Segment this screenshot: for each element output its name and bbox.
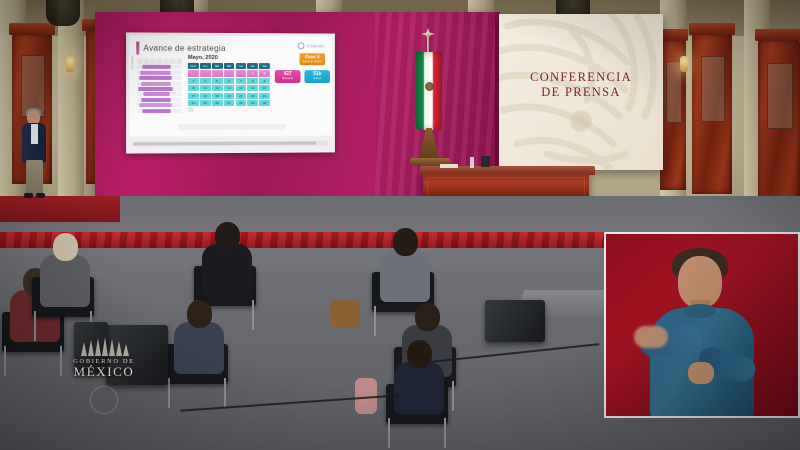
- calendar-day-cell: 14: [235, 85, 246, 91]
- calendar-day-cell: 3: [188, 78, 199, 84]
- slide-footer-bar: [178, 124, 286, 130]
- gantt-bar: [144, 92, 170, 96]
- banner-seal-icon: [570, 110, 592, 132]
- calendar-dow-cell: Lun: [200, 63, 211, 69]
- calendar-day-cell: 29: [247, 100, 258, 106]
- stat-sub: Activos: [304, 77, 330, 80]
- gantt-bar: [141, 81, 170, 85]
- gantt-row: [137, 109, 182, 113]
- calendar-week-row: 17181920212223: [188, 92, 270, 98]
- gantt-row: [137, 81, 182, 85]
- audience-head: [393, 228, 418, 256]
- chair-leg: [374, 306, 376, 336]
- audience-torso: [174, 322, 224, 374]
- interpreter-hand-right: [688, 362, 714, 384]
- calendar-day-cell: 22: [247, 93, 258, 99]
- calendar-day-cell: [200, 70, 211, 76]
- gantt-bar: [141, 98, 171, 102]
- gantt-bar: [142, 109, 171, 113]
- chair-leg: [444, 418, 446, 448]
- banner-line-2: DE PRENSA: [499, 85, 663, 100]
- banner-line-1: CONFERENCIA: [499, 70, 663, 85]
- calendar-day-cell: 28: [235, 100, 246, 106]
- gantt-row: [137, 98, 182, 102]
- wall-sconce-icon: [66, 56, 74, 72]
- sign-language-pip: [604, 232, 800, 418]
- banner-text: CONFERENCIA DE PRENSA: [499, 70, 663, 100]
- calendar-dow-cell: Mar: [212, 63, 223, 69]
- mexican-flag: [416, 52, 442, 130]
- calendar-day-cell: 24: [188, 100, 199, 106]
- calendar-dow-cell: Vie: [247, 63, 258, 69]
- calendar-day-cell: 5: [212, 78, 223, 84]
- slide-logo: CONEVAL: [298, 42, 326, 49]
- chair-leg: [452, 381, 454, 411]
- calendar-legend-chip: [188, 107, 194, 112]
- calendar-day-cell: 16: [259, 85, 270, 91]
- eagle-logo-icon: [75, 332, 133, 358]
- calendar-day-cell: 8: [247, 78, 258, 84]
- gantt-row: [137, 92, 182, 96]
- calendar-day-cell: 20: [224, 92, 235, 98]
- audience-torso: [394, 362, 444, 414]
- calendar-day-cell: 11: [200, 85, 211, 91]
- gantt-chart: Entidades: [137, 59, 182, 122]
- calendar-week-row: 12: [188, 70, 270, 76]
- gantt-bar: [139, 87, 173, 91]
- gantt-row: [137, 103, 182, 107]
- audience-torso: [40, 255, 90, 307]
- calendar-day-cell: 21: [235, 93, 246, 99]
- calendar-day-cell: [224, 70, 235, 76]
- phase-badge: Fase 3 Ascenso rápido: [300, 53, 326, 65]
- calendar-day-cell: 2: [259, 70, 270, 76]
- projection-screen: Avance de estrategia CONEVAL Fase 3 Asce…: [126, 32, 335, 153]
- calendar-day-cell: 1: [247, 70, 258, 76]
- calendar-day-cell: 23: [259, 93, 270, 99]
- calendar-day-cell: 10: [188, 85, 199, 91]
- calendar-day-cell: [235, 70, 246, 76]
- door: [692, 34, 732, 194]
- calendar-dow-cell: Jue: [235, 63, 246, 69]
- slide-scrollbar[interactable]: [132, 141, 329, 147]
- gantt-row: [137, 65, 182, 69]
- gantt-bar: [139, 103, 171, 107]
- audience-torso: [202, 244, 252, 296]
- calendar-day-cell: 19: [212, 92, 223, 98]
- stat-badge-active: 51k Activos: [304, 70, 330, 83]
- audience-head: [215, 222, 240, 250]
- gantt-row: [137, 87, 182, 91]
- calendar-month-label: Mayo, 2020: [188, 55, 270, 61]
- stat-badge-cases: 427 Mil casos: [275, 70, 301, 83]
- presentation-slide: Avance de estrategia CONEVAL Fase 3 Asce…: [129, 35, 332, 136]
- gantt-y-label: Entidades: [131, 55, 134, 68]
- chair-leg: [168, 378, 170, 408]
- presenter-shoe: [36, 193, 45, 198]
- slide-title: Avance de estrategia: [143, 44, 225, 53]
- gantt-bar: [139, 76, 172, 80]
- water-bottle: [470, 157, 474, 168]
- audience-torso: [380, 250, 430, 302]
- chair-leg: [224, 378, 226, 408]
- gantt-row: [137, 76, 182, 80]
- chandelier: [46, 0, 80, 26]
- gantt-bar: [140, 71, 171, 75]
- calendar-day-cell: 15: [247, 85, 258, 91]
- conference-banner: CONFERENCIA DE PRENSA: [499, 14, 663, 170]
- logo-mark-icon: [298, 42, 305, 49]
- phase-badge-sub: Ascenso rápido: [300, 60, 326, 63]
- audience-head: [53, 233, 78, 261]
- audience-head: [415, 303, 440, 331]
- calendar-day-cell: 9: [259, 78, 270, 84]
- gobierno-watermark: GOBIERNO DE MÉXICO: [52, 358, 156, 379]
- chair-leg: [388, 418, 390, 448]
- calendar-day-cell: 17: [188, 92, 199, 98]
- door: [758, 40, 800, 202]
- interpreter-collar: [684, 304, 716, 318]
- calendar-day-cell: 26: [212, 100, 223, 106]
- red-carpet: [0, 196, 120, 222]
- backpack: [330, 300, 360, 328]
- watermark-line-2: MÉXICO: [52, 365, 156, 379]
- calendar-day-cell: 27: [224, 100, 235, 106]
- stat-sub: Mil casos: [275, 77, 301, 80]
- calendar-dow-cell: Sáb: [259, 63, 270, 69]
- logo-text: CONEVAL: [306, 44, 325, 48]
- wall-sconce-icon: [680, 56, 688, 72]
- calendar-day-cell: 4: [200, 78, 211, 84]
- calendar-day-cell: 25: [200, 100, 211, 106]
- calendar-day-cell: 12: [212, 85, 223, 91]
- press-table: [485, 300, 545, 342]
- calendar-day-cell: 13: [224, 85, 235, 91]
- presenter-legs: [26, 160, 43, 196]
- gantt-bar: [143, 65, 171, 69]
- calendar-grid: DomLunMarMiéJueVieSáb1234567891011121314…: [188, 63, 270, 106]
- slide-title-row: Avance de estrategia: [136, 42, 226, 55]
- chair-leg: [252, 300, 254, 330]
- calendar-day-cell: [212, 70, 223, 76]
- interpreter-hand-left: [634, 326, 668, 348]
- table-papers: [440, 164, 458, 168]
- calendar-dow-cell: Mié: [224, 63, 235, 69]
- gantt-header: [137, 59, 182, 64]
- calendar-week-row: 10111213141516: [188, 85, 270, 91]
- calendar-day-cell: 7: [235, 78, 246, 84]
- calendar-week-row: 24252627282930: [188, 100, 270, 106]
- table-equipment: [481, 156, 490, 167]
- calendar-dow-row: DomLunMarMiéJueVieSáb: [188, 63, 270, 69]
- gantt-row: [137, 71, 182, 75]
- presenter-shoe: [24, 193, 33, 198]
- broadcast-frame: CONFERENCIA DE PRENSA Avance de estrateg…: [0, 0, 800, 450]
- chair-leg: [4, 346, 6, 376]
- calendar-day-cell: 18: [200, 92, 211, 98]
- watermark-seal-icon: [90, 386, 118, 414]
- calendar-day-cell: 30: [259, 100, 270, 106]
- audience-head: [407, 340, 432, 368]
- title-accent-bar: [136, 42, 139, 55]
- calendar-day-cell: 6: [224, 78, 235, 84]
- calendar-dow-cell: Dom: [188, 63, 199, 69]
- calendar-week-row: 3456789: [188, 78, 270, 84]
- presenter-shirt: [31, 124, 38, 144]
- chair-leg: [34, 311, 36, 341]
- audience-head: [187, 300, 212, 328]
- calendar-day-cell: [188, 70, 199, 76]
- calendar-block: Mayo, 2020 DomLunMarMiéJueVieSáb12345678…: [188, 55, 270, 112]
